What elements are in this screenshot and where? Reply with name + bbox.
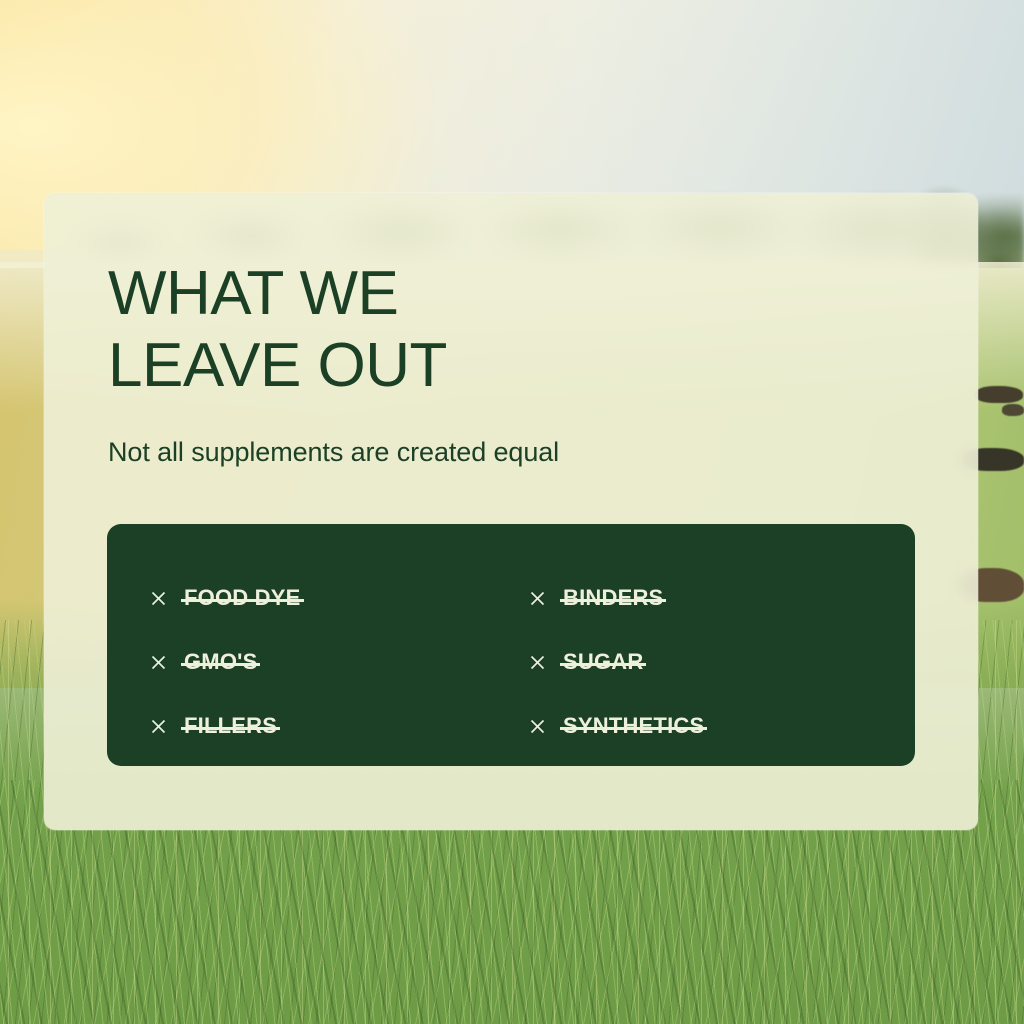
x-icon	[530, 591, 545, 606]
list-item-label: FILLERS	[184, 713, 277, 739]
list-item: FILLERS	[151, 694, 496, 758]
cow	[1002, 404, 1024, 416]
x-icon	[151, 655, 166, 670]
list-item: GMO'S	[151, 630, 496, 694]
x-icon	[530, 655, 545, 670]
page-title: WHAT WE LEAVE OUT	[108, 258, 447, 402]
list-item: SUGAR	[530, 630, 875, 694]
subtitle: Not all supplements are created equal	[108, 437, 559, 468]
excluded-ingredients-panel: FOOD DYE BINDERS GMO'S	[107, 524, 915, 766]
list-item-label: SYNTHETICS	[563, 713, 704, 739]
x-icon	[151, 719, 166, 734]
list-item-label: GMO'S	[184, 649, 257, 675]
list-item: BINDERS	[530, 566, 875, 630]
cow	[975, 386, 1023, 403]
list-item-label: BINDERS	[563, 585, 663, 611]
promo-graphic: WHAT WE LEAVE OUT Not all supplements ar…	[0, 0, 1024, 1024]
x-icon	[530, 719, 545, 734]
content-card: WHAT WE LEAVE OUT Not all supplements ar…	[44, 193, 978, 830]
list-item: FOOD DYE	[151, 566, 496, 630]
list-item-label: FOOD DYE	[184, 585, 301, 611]
x-icon	[151, 591, 166, 606]
list-item: SYNTHETICS	[530, 694, 875, 758]
list-item-label: SUGAR	[563, 649, 643, 675]
